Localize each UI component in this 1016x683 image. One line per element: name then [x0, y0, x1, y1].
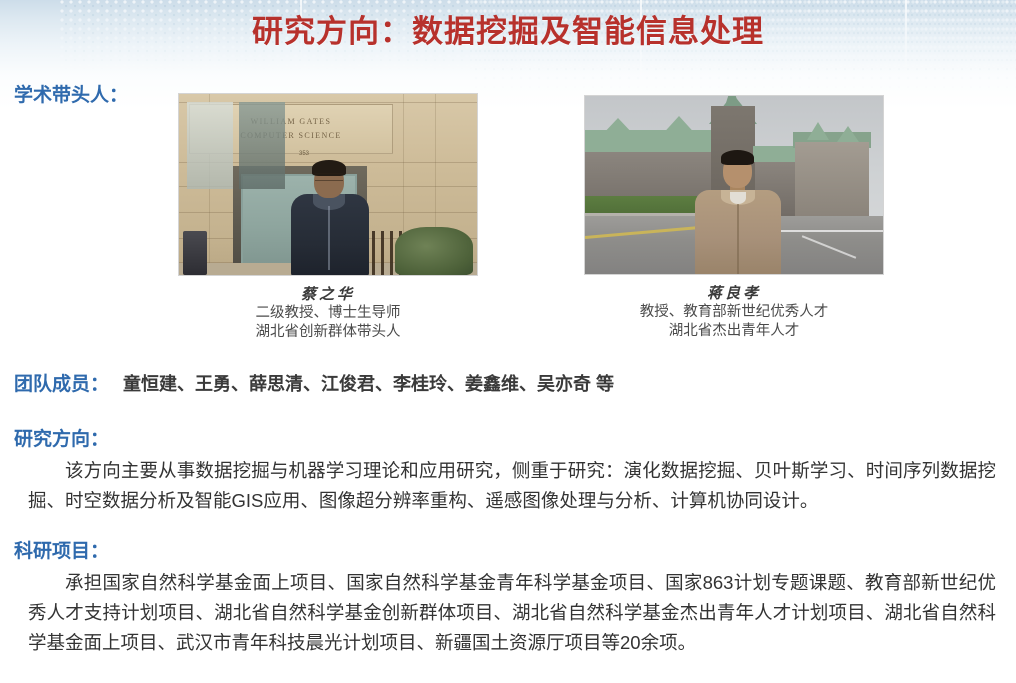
person-card-1: WILLIAM GATES COMPUTER SCIENCE 353 蔡之华 二…	[178, 93, 478, 342]
team-members-value: 童恒建、王勇、薛思清、江俊君、李桂玲、姜鑫维、吴亦奇 等	[123, 374, 614, 394]
page-title: 研究方向：数据挖掘及智能信息处理	[0, 6, 1016, 51]
research-projects-body: 承担国家自然科学基金面上项目、国家自然科学基金青年科学基金项目、国家863计划专…	[28, 568, 996, 658]
person-title-2-line-2: 湖北省杰出青年人才	[584, 322, 884, 341]
person-name-2: 蒋良孝	[584, 282, 884, 303]
person-title-2-line-1: 教授、教育部新世纪优秀人才	[584, 303, 884, 322]
person-name-1: 蔡之华	[178, 283, 478, 304]
person-title-1-line-1: 二级教授、博士生导师	[178, 304, 478, 323]
person-title-1-line-2: 湖北省创新群体带头人	[178, 323, 478, 342]
person-card-2: 蒋良孝 教授、教育部新世纪优秀人才 湖北省杰出青年人才	[584, 95, 884, 341]
research-direction-body: 该方向主要从事数据挖掘与机器学习理论和应用研究，侧重于研究：演化数据挖掘、贝叶斯…	[28, 456, 996, 516]
building-door-number: 353	[299, 151, 309, 157]
team-members-label: 团队成员：	[14, 374, 109, 395]
research-direction-label: 研究方向：	[14, 424, 109, 451]
slide-canvas: 研究方向：数据挖掘及智能信息处理 学术带头人： WILLIAM GATES CO…	[0, 0, 1016, 683]
academic-leader-label: 学术带头人：	[14, 80, 128, 107]
person-photo-1: WILLIAM GATES COMPUTER SCIENCE 353	[178, 93, 478, 276]
person-photo-2	[584, 95, 884, 275]
research-projects-label: 科研项目：	[14, 536, 109, 563]
team-members-row: 团队成员：童恒建、王勇、薛思清、江俊君、李桂玲、姜鑫维、吴亦奇 等	[14, 369, 614, 396]
